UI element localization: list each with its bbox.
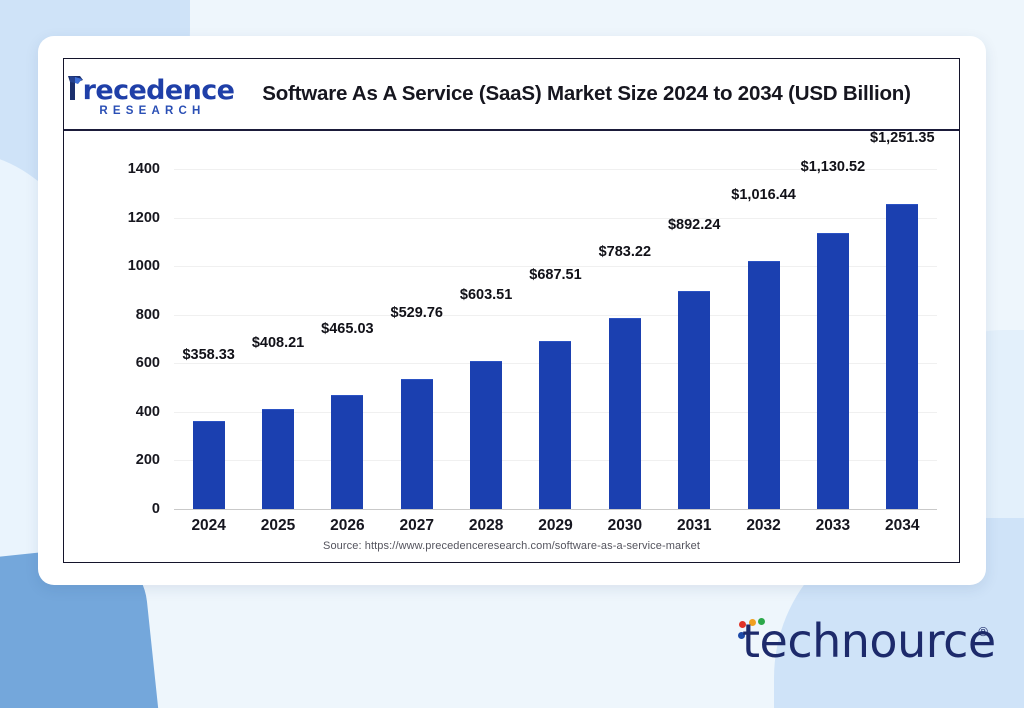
y-axis-tick-label: 800: [104, 307, 166, 323]
y-axis-tick-label: 1400: [104, 161, 166, 177]
chart-card: recedence RESEARCH Software As A Service…: [38, 36, 986, 585]
plot-area: 0200400600800100012001400 $358.33$408.21…: [64, 131, 959, 560]
y-axis-tick-label: 1000: [104, 258, 166, 274]
bar-group: $1,130.52: [798, 80, 867, 560]
x-axis-tick-label: 2027: [382, 517, 451, 535]
y-axis-tick-label: 600: [104, 355, 166, 371]
bar-group: $358.33: [174, 80, 243, 560]
y-axis-tick-label: 400: [104, 404, 166, 420]
bar[interactable]: [331, 395, 363, 509]
bar-group: $783.22: [590, 80, 659, 560]
bar-group: $1,251.35: [868, 80, 937, 560]
technource-registered-mark: ®: [978, 624, 988, 639]
x-axis: 2024202520262027202820292030203120322033…: [174, 509, 937, 543]
bar-group: $687.51: [521, 80, 590, 560]
x-axis-tick-label: 2024: [174, 517, 243, 535]
bar[interactable]: [609, 318, 641, 509]
bar-value-label: $529.76: [391, 305, 443, 321]
technource-logo: technource ®: [736, 616, 988, 674]
source-caption: Source: https://www.precedenceresearch.c…: [64, 540, 959, 552]
bar[interactable]: [678, 291, 710, 509]
x-axis-tick-label: 2026: [313, 517, 382, 535]
bar-value-label: $687.51: [529, 267, 581, 283]
chart-frame: recedence RESEARCH Software As A Service…: [63, 58, 960, 563]
bar-value-label: $892.24: [668, 217, 720, 233]
bar[interactable]: [539, 341, 571, 509]
bar-series: $358.33$408.21$465.03$529.76$603.51$687.…: [174, 131, 937, 560]
y-axis-tick-label: 1200: [104, 210, 166, 226]
bar[interactable]: [886, 204, 918, 509]
bar[interactable]: [470, 361, 502, 509]
bar-group: $529.76: [382, 80, 451, 560]
x-axis-tick-label: 2025: [243, 517, 312, 535]
x-axis-tick-label: 2029: [521, 517, 590, 535]
bar[interactable]: [748, 261, 780, 509]
precedence-p-mark-icon: [66, 74, 85, 101]
bar-value-label: $1,016.44: [731, 187, 796, 203]
bar-group: $465.03: [313, 80, 382, 560]
y-axis: 0200400600800100012001400: [104, 131, 166, 560]
bar-value-label: $408.21: [252, 335, 304, 351]
y-axis-tick-label: 200: [104, 452, 166, 468]
bar[interactable]: [193, 421, 225, 509]
y-axis-tick-label: 0: [104, 501, 166, 517]
bar-value-label: $1,130.52: [801, 159, 866, 175]
bar[interactable]: [817, 233, 849, 509]
bar-group: $603.51: [451, 80, 520, 560]
bar-value-label: $603.51: [460, 287, 512, 303]
x-axis-tick-label: 2033: [798, 517, 867, 535]
x-axis-tick-label: 2031: [660, 517, 729, 535]
bar[interactable]: [401, 379, 433, 509]
x-axis-tick-label: 2032: [729, 517, 798, 535]
x-axis-tick-label: 2030: [590, 517, 659, 535]
bar-value-label: $783.22: [599, 244, 651, 260]
bar-value-label: $358.33: [182, 347, 234, 363]
x-axis-tick-label: 2028: [451, 517, 520, 535]
bar-group: $1,016.44: [729, 80, 798, 560]
bar-value-label: $1,251.35: [870, 130, 935, 146]
bar-value-label: $465.03: [321, 321, 373, 337]
bar-group: $892.24: [660, 80, 729, 560]
technource-wordmark: technource: [742, 618, 996, 664]
x-axis-tick-label: 2034: [868, 517, 937, 535]
bar-group: $408.21: [243, 80, 312, 560]
plot-canvas: 0200400600800100012001400 $358.33$408.21…: [64, 131, 959, 560]
bar[interactable]: [262, 409, 294, 509]
